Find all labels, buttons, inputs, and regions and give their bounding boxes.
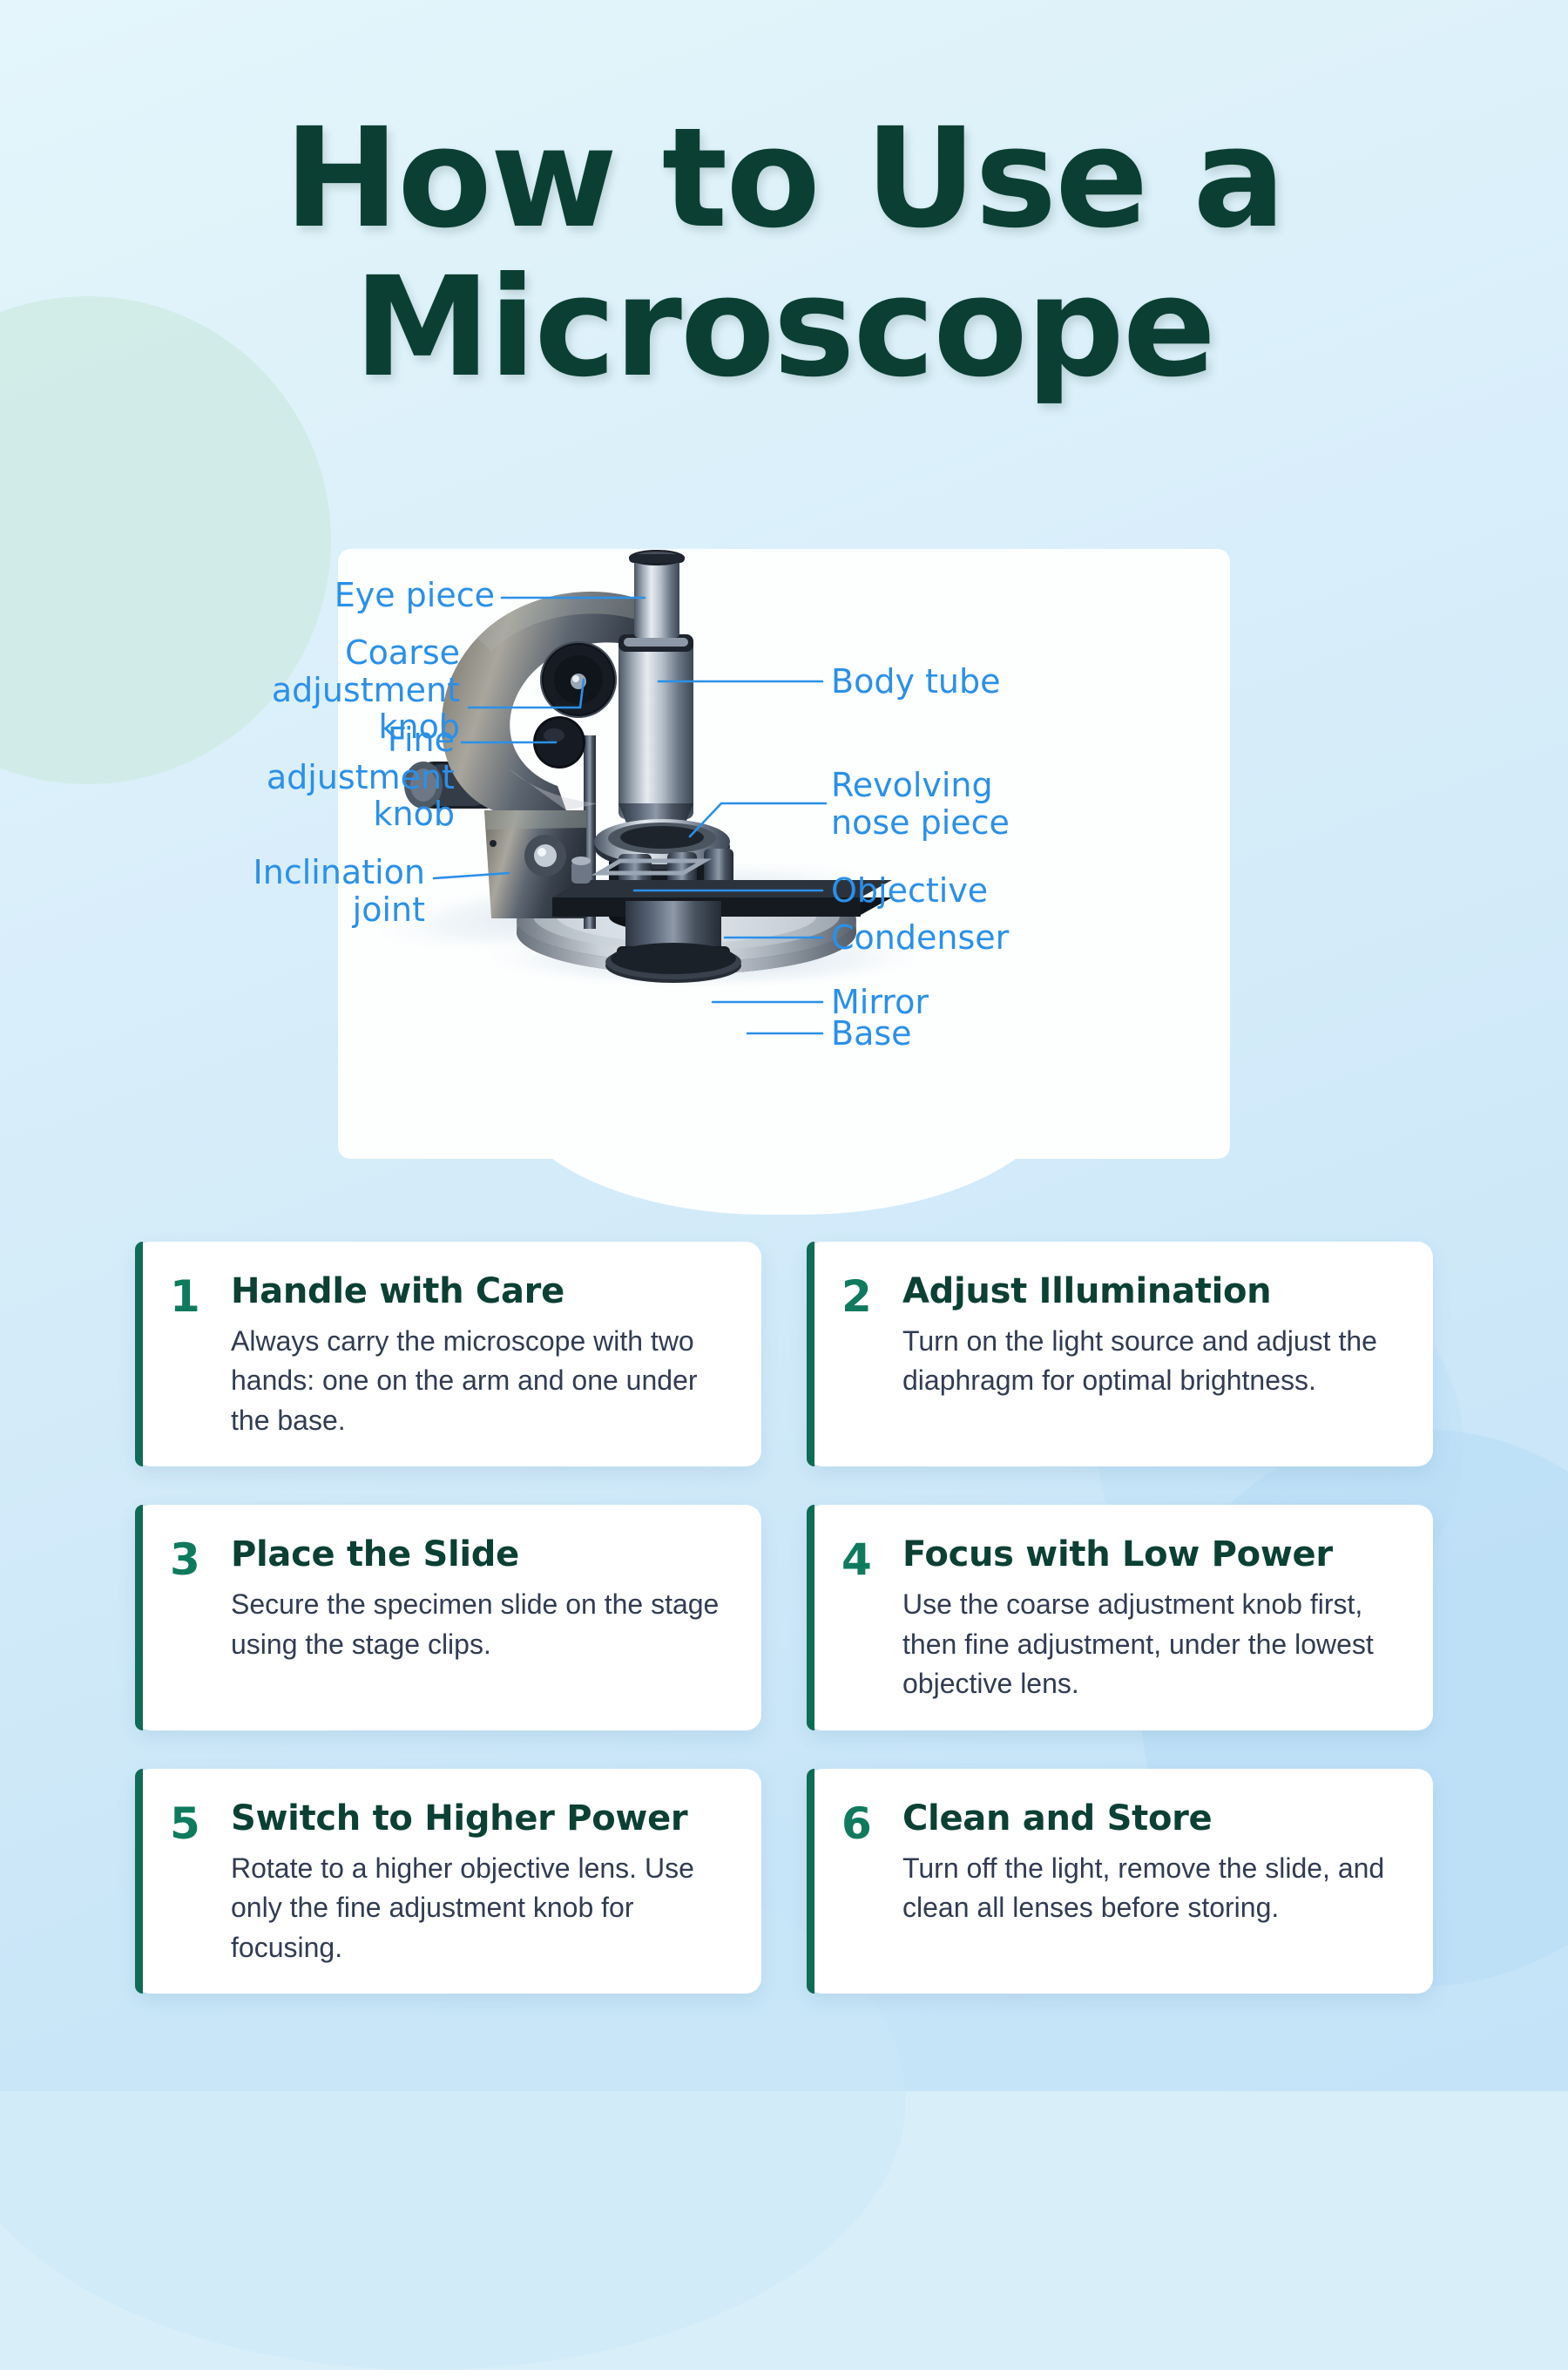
- step-card-1[interactable]: 1 Handle with Care Always carry the micr…: [135, 1242, 761, 1466]
- label-base: Base: [831, 1015, 912, 1053]
- step-card-2[interactable]: 2 Adjust Illumination Turn on the light …: [807, 1242, 1433, 1466]
- title-line-2: Microscope: [0, 254, 1568, 403]
- step-title: Switch to Higher Power: [231, 1798, 727, 1838]
- step-number: 6: [841, 1798, 880, 1967]
- condenser-collar: [611, 943, 736, 974]
- step-title: Clean and Store: [902, 1798, 1398, 1838]
- label-body-tube: Body tube: [831, 663, 1001, 701]
- label-objective: Objective: [831, 872, 988, 910]
- microscope-diagram-panel: Eye piece Coarse adjustment knob Fine ad…: [338, 549, 1230, 1159]
- step-description: Always carry the microscope with two han…: [231, 1322, 727, 1440]
- page-title: How to Use a Microscope: [0, 105, 1568, 402]
- label-inclination-joint: Inclination joint: [242, 854, 425, 928]
- step-card-3[interactable]: 3 Place the Slide Secure the specimen sl…: [135, 1505, 761, 1730]
- step-title: Place the Slide: [231, 1534, 727, 1574]
- step-description: Rotate to a higher objective lens. Use o…: [231, 1849, 727, 1967]
- label-eye-piece: Eye piece: [321, 577, 495, 614]
- title-line-1: How to Use a: [0, 105, 1568, 254]
- step-number: 4: [841, 1534, 880, 1703]
- step-card-4[interactable]: 4 Focus with Low Power Use the coarse ad…: [807, 1505, 1433, 1730]
- step-number: 1: [170, 1271, 208, 1440]
- step-number: 5: [170, 1798, 208, 1967]
- step-card-6[interactable]: 6 Clean and Store Turn off the light, re…: [807, 1769, 1433, 1994]
- step-title: Focus with Low Power: [902, 1534, 1398, 1574]
- step-title: Handle with Care: [231, 1271, 727, 1311]
- step-title: Adjust Illumination: [902, 1271, 1398, 1311]
- step-card-5[interactable]: 5 Switch to Higher Power Rotate to a hig…: [135, 1769, 761, 1994]
- label-fine-adjustment-knob: Fine adjustment knob: [225, 721, 455, 833]
- step-number: 2: [841, 1271, 880, 1440]
- microscope-illustration: [338, 549, 1230, 1159]
- steps-grid: 1 Handle with Care Always carry the micr…: [135, 1242, 1433, 1994]
- step-description: Turn off the light, remove the slide, an…: [902, 1849, 1398, 1928]
- step-description: Use the coarse adjustment knob first, th…: [902, 1585, 1398, 1703]
- body-tube-part: [618, 634, 693, 836]
- microscope-diagram: Eye piece Coarse adjustment knob Fine ad…: [338, 549, 1230, 1159]
- step-number: 3: [170, 1534, 208, 1703]
- label-revolving-nose-piece: Revolving nose piece: [831, 767, 1010, 841]
- step-description: Turn on the light source and adjust the …: [902, 1322, 1398, 1401]
- label-condenser: Condenser: [831, 919, 1009, 957]
- step-description: Secure the specimen slide on the stage u…: [231, 1585, 727, 1664]
- eye-piece-part: [629, 550, 685, 638]
